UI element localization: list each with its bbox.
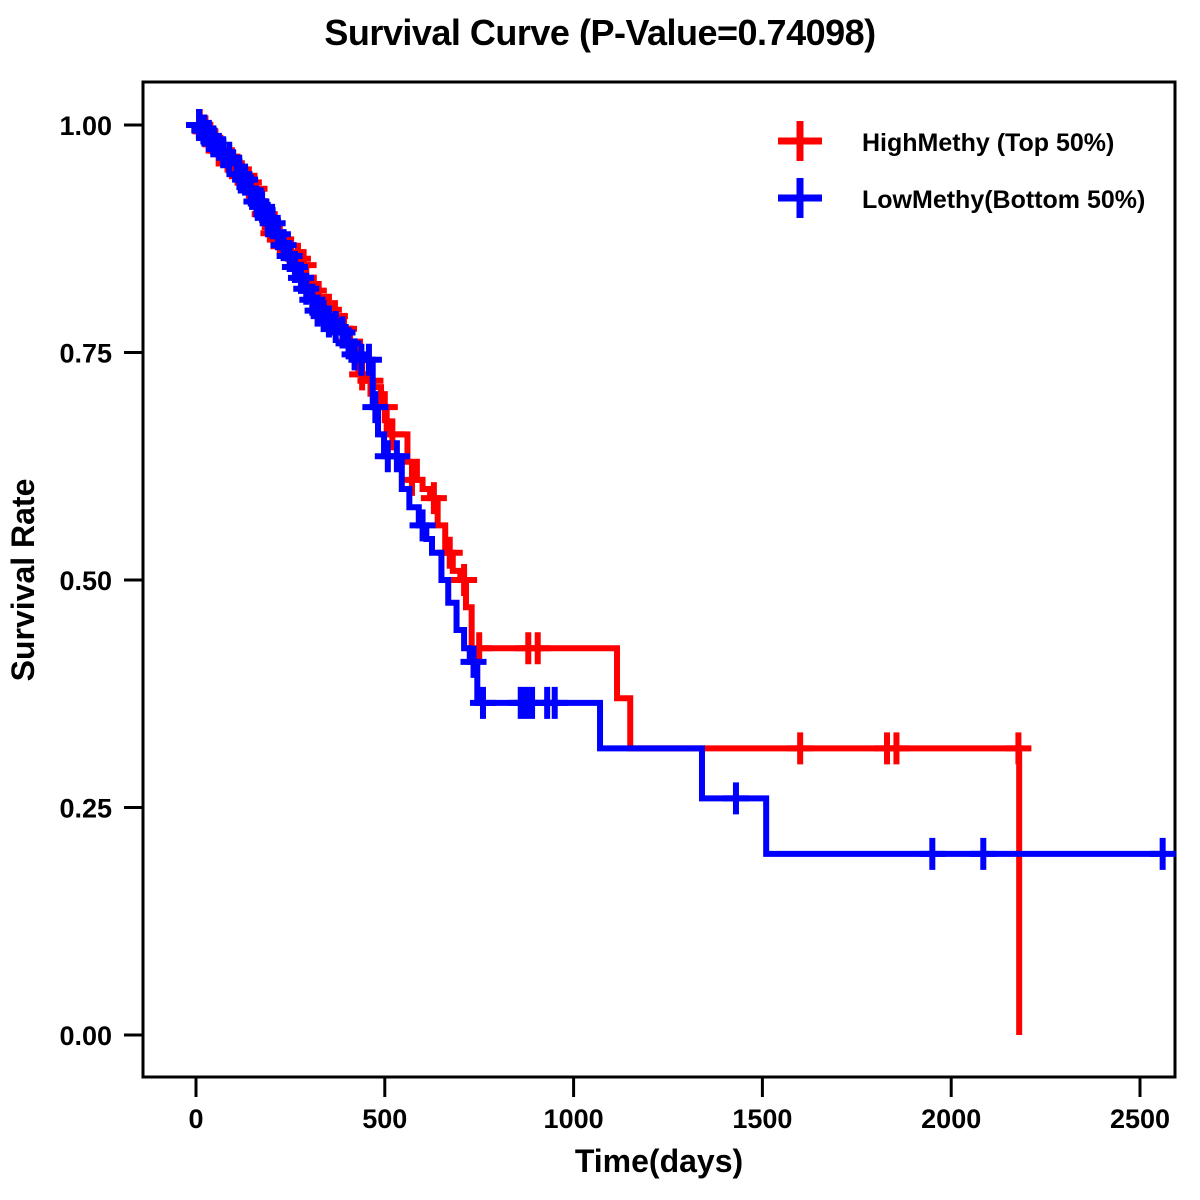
- y-tick-label: 0.25: [59, 794, 112, 824]
- legend-label: HighMethy (Top 50%): [862, 129, 1114, 157]
- x-tick-label: 2500: [1110, 1104, 1170, 1134]
- series-layer: [186, 109, 1176, 1035]
- x-tick-label: 500: [362, 1104, 407, 1134]
- survival-step-line: [196, 125, 1019, 1035]
- x-tick-label: 0: [188, 1104, 203, 1134]
- survival-curve-figure: Survival Curve (P-Value=0.74098) 0500100…: [0, 0, 1200, 1200]
- x-tick-label: 1000: [544, 1104, 604, 1134]
- x-axis-ticks: 05001000150020002500: [188, 1078, 1170, 1134]
- legend-item[interactable]: HighMethy (Top 50%): [778, 121, 1114, 161]
- y-tick-label: 0.00: [59, 1021, 112, 1051]
- y-tick-label: 1.00: [59, 111, 112, 141]
- legend-label: LowMethy(Bottom 50%): [862, 186, 1145, 214]
- y-axis-ticks: 0.000.250.500.751.00: [59, 111, 143, 1051]
- x-axis-title: Time(days): [575, 1143, 743, 1179]
- y-tick-label: 0.50: [59, 566, 112, 596]
- x-tick-label: 2000: [921, 1104, 981, 1134]
- legend: HighMethy (Top 50%)LowMethy(Bottom 50%): [778, 121, 1145, 218]
- survival-plot: 05001000150020002500 0.000.250.500.751.0…: [0, 0, 1200, 1200]
- x-tick-label: 1500: [732, 1104, 792, 1134]
- y-axis-title: Survival Rate: [5, 479, 41, 682]
- series-high-methy: [187, 109, 1032, 1035]
- legend-item[interactable]: LowMethy(Bottom 50%): [778, 178, 1145, 218]
- series-low-methy: [186, 109, 1176, 870]
- y-tick-label: 0.75: [59, 339, 112, 369]
